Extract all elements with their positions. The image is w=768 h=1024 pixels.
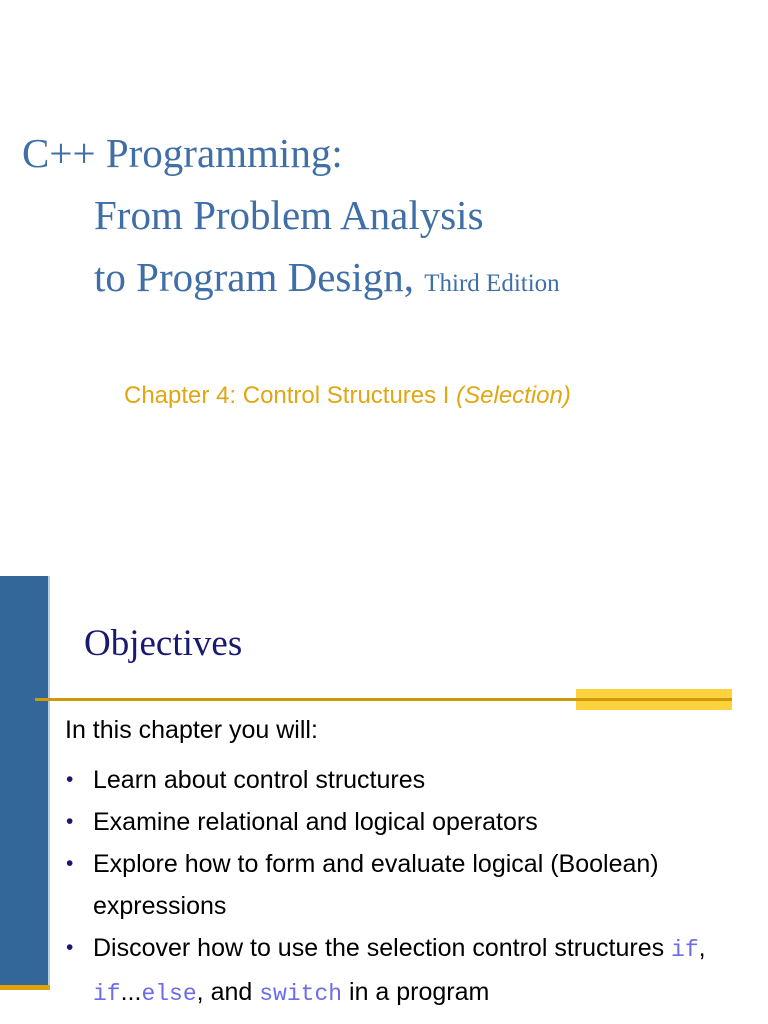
objectives-slide: Objectives In this chapter you will: Lea…	[0, 576, 768, 1024]
book-title: C++ Programming: From Problem Analysis t…	[22, 122, 742, 315]
code-keyword: if	[671, 937, 699, 963]
book-title-line-3-text: to Program Design,	[94, 254, 414, 300]
code-keyword: switch	[259, 981, 342, 1007]
objectives-bullet-item: Discover how to use the selection contro…	[0, 927, 768, 1015]
chapter-subtitle-selection: (Selection)	[456, 382, 571, 409]
bullet-text: in a program	[342, 978, 489, 1006]
book-edition: Third Edition	[424, 270, 559, 297]
code-keyword: if	[93, 981, 121, 1007]
bullet-text: , and	[197, 978, 260, 1006]
bullet-dot-icon	[66, 801, 73, 843]
chapter-subtitle: Chapter 4: Control Structures I (Selecti…	[124, 382, 571, 410]
title-slide: C++ Programming: From Problem Analysis t…	[0, 0, 768, 576]
book-title-line-3: to Program Design, Third Edition	[22, 246, 742, 315]
objectives-bullet-item: Learn about control structures	[0, 759, 768, 801]
bullet-text: Examine relational and logical operators	[93, 808, 538, 836]
bullet-text: Explore how to form and evaluate logical…	[93, 850, 659, 920]
bullet-text: Learn about control structures	[93, 766, 425, 794]
bullet-dot-icon	[66, 843, 73, 885]
bullet-text: ...	[121, 978, 142, 1006]
chapter-subtitle-main: Chapter 4: Control Structures I	[124, 382, 456, 409]
bullet-text: Discover how to use the selection contro…	[93, 934, 671, 962]
book-title-line-1: C++ Programming:	[22, 122, 742, 184]
objectives-intro: In this chapter you will:	[65, 716, 318, 745]
code-keyword: else	[141, 981, 196, 1007]
objectives-bullet-item: Examine relational and logical operators	[0, 801, 768, 843]
objectives-heading: Objectives	[84, 622, 242, 665]
bullet-text: ,	[699, 934, 706, 962]
objectives-bullet-list: Learn about control structuresExamine re…	[0, 759, 768, 1015]
book-title-line-2: From Problem Analysis	[22, 184, 742, 246]
objectives-bullet-item: Explore how to form and evaluate logical…	[0, 843, 768, 927]
bullet-dot-icon	[66, 927, 73, 969]
bullet-dot-icon	[66, 759, 73, 801]
gold-divider-rule	[35, 698, 732, 701]
